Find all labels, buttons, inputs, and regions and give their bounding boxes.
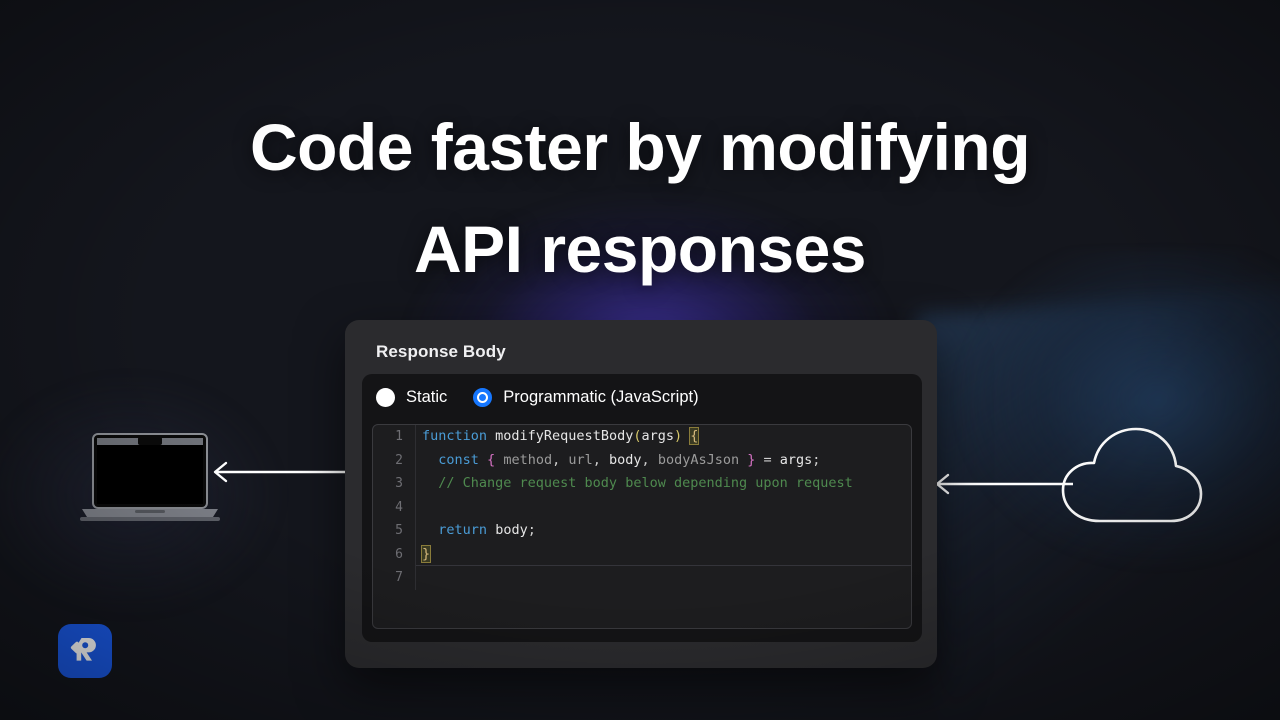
code-line-text bbox=[415, 566, 911, 590]
code-token: body bbox=[609, 452, 642, 468]
code-line[interactable]: 5 return body; bbox=[373, 519, 911, 543]
code-token: body bbox=[495, 522, 528, 538]
radio-option-programmatic[interactable]: Programmatic (JavaScript) bbox=[473, 388, 698, 407]
radio-option-static[interactable]: Static bbox=[376, 388, 447, 407]
code-line[interactable]: 3 // Change request body below depending… bbox=[373, 472, 911, 496]
code-line-text: // Change request body below depending u… bbox=[415, 472, 911, 496]
code-token: args bbox=[780, 452, 813, 468]
code-token: ) bbox=[674, 428, 682, 444]
line-number: 5 bbox=[373, 523, 415, 538]
code-token: = bbox=[755, 452, 779, 468]
card-title: Response Body bbox=[376, 342, 919, 362]
code-token bbox=[422, 452, 438, 468]
code-line-text: const { method, url, body, bodyAsJson } … bbox=[415, 449, 911, 473]
code-token: const bbox=[438, 452, 479, 468]
screenshot-canvas: Code faster by modifying API responses bbox=[0, 0, 1280, 720]
code-token: ; bbox=[812, 452, 820, 468]
line-number: 2 bbox=[373, 453, 415, 468]
code-line[interactable]: 6} bbox=[373, 543, 911, 567]
code-line[interactable]: 7 bbox=[373, 566, 911, 590]
radio-mark-static[interactable] bbox=[376, 388, 395, 407]
code-token bbox=[479, 452, 487, 468]
code-line[interactable]: 1function modifyRequestBody(args) { bbox=[373, 425, 911, 449]
code-token: args bbox=[641, 428, 674, 444]
radio-label-static: Static bbox=[406, 388, 447, 407]
code-token: method bbox=[503, 452, 552, 468]
code-token: , bbox=[552, 452, 568, 468]
page-title: Code faster by modifying API responses bbox=[0, 96, 1280, 300]
code-line-text: function modifyRequestBody(args) { bbox=[415, 425, 911, 449]
code-line-text bbox=[415, 496, 911, 520]
requestly-logo-icon bbox=[58, 624, 112, 678]
code-token bbox=[739, 452, 747, 468]
code-line-text: } bbox=[415, 543, 911, 567]
code-token: , bbox=[593, 452, 609, 468]
code-token: function bbox=[422, 428, 495, 444]
code-token: } bbox=[422, 546, 430, 562]
page-title-line-2: API responses bbox=[0, 198, 1280, 300]
arrow-left-icon bbox=[206, 460, 351, 489]
radio-mark-programmatic[interactable] bbox=[473, 388, 492, 407]
code-token bbox=[422, 522, 438, 538]
line-number: 7 bbox=[373, 570, 415, 585]
code-line[interactable]: 4 bbox=[373, 496, 911, 520]
cloud-icon bbox=[1058, 424, 1206, 533]
radio-label-programmatic: Programmatic (JavaScript) bbox=[503, 388, 698, 407]
line-number: 3 bbox=[373, 476, 415, 491]
code-token: url bbox=[568, 452, 592, 468]
code-token: ; bbox=[528, 522, 536, 538]
code-token bbox=[487, 522, 495, 538]
body-type-radio-group: Static Programmatic (JavaScript) bbox=[362, 374, 922, 407]
line-number: 1 bbox=[373, 429, 415, 444]
code-token: { bbox=[487, 452, 495, 468]
code-line-text: return body; bbox=[415, 519, 911, 543]
code-token: // Change request body below depending u… bbox=[422, 475, 853, 491]
line-number: 6 bbox=[373, 547, 415, 562]
code-token: modifyRequestBody bbox=[495, 428, 633, 444]
code-token: bodyAsJson bbox=[658, 452, 739, 468]
page-title-line-1: Code faster by modifying bbox=[250, 110, 1030, 184]
line-number: 4 bbox=[373, 500, 415, 515]
code-token: { bbox=[690, 428, 698, 444]
laptop-icon bbox=[80, 432, 220, 529]
code-token: return bbox=[438, 522, 487, 538]
code-token: , bbox=[642, 452, 658, 468]
code-line[interactable]: 2 const { method, url, body, bodyAsJson … bbox=[373, 449, 911, 473]
arrow-left-icon-right-segment bbox=[928, 472, 1073, 501]
code-editor[interactable]: 1function modifyRequestBody(args) {2 con… bbox=[372, 424, 912, 629]
